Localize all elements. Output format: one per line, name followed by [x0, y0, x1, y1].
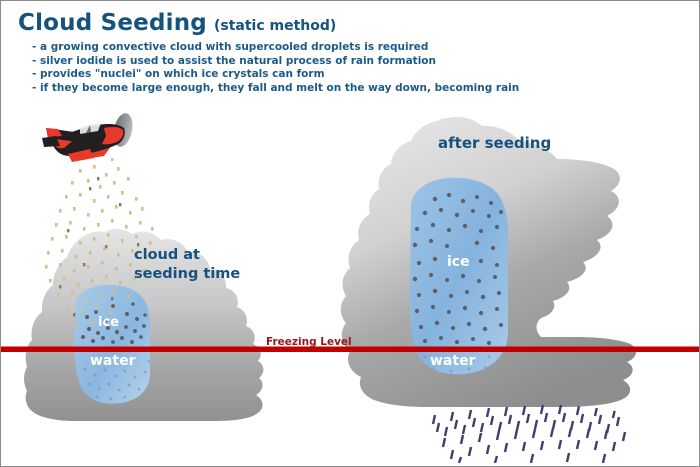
left-ice-water-blob — [74, 285, 150, 404]
right-ice-water-blob — [410, 178, 508, 375]
label-water-right: water — [430, 353, 475, 369]
bullet-item: - provides "nuclei" on which ice crystal… — [32, 68, 519, 82]
airplane-icon — [42, 112, 135, 162]
label-ice-left: ice — [98, 315, 119, 330]
bullet-item: - a growing convective cloud with superc… — [32, 41, 519, 55]
label-freezing-level: Freezing Level — [266, 336, 352, 348]
label-water-left: water — [90, 353, 135, 369]
label-after-seeding: after seeding — [438, 134, 551, 152]
label-cloud-at-seeding-time: cloud at seeding time — [134, 246, 240, 284]
rain-streaks — [427, 405, 625, 463]
label-ice-right: ice — [447, 254, 470, 270]
label-line-1: cloud at — [134, 246, 240, 265]
label-line-2: seeding time — [134, 265, 240, 284]
title-subtitle: (static method) — [214, 18, 336, 34]
header: Cloud Seeding(static method) - a growing… — [1, 1, 699, 106]
diagram-canvas: Cloud Seeding(static method) - a growing… — [0, 0, 700, 467]
title-main: Cloud Seeding — [18, 10, 207, 36]
page-title: Cloud Seeding(static method) — [18, 10, 336, 36]
bullet-item: - silver iodide is used to assist the na… — [32, 55, 519, 69]
bullet-item: - if they become large enough, they fall… — [32, 82, 519, 96]
bullet-list: - a growing convective cloud with superc… — [32, 41, 519, 95]
